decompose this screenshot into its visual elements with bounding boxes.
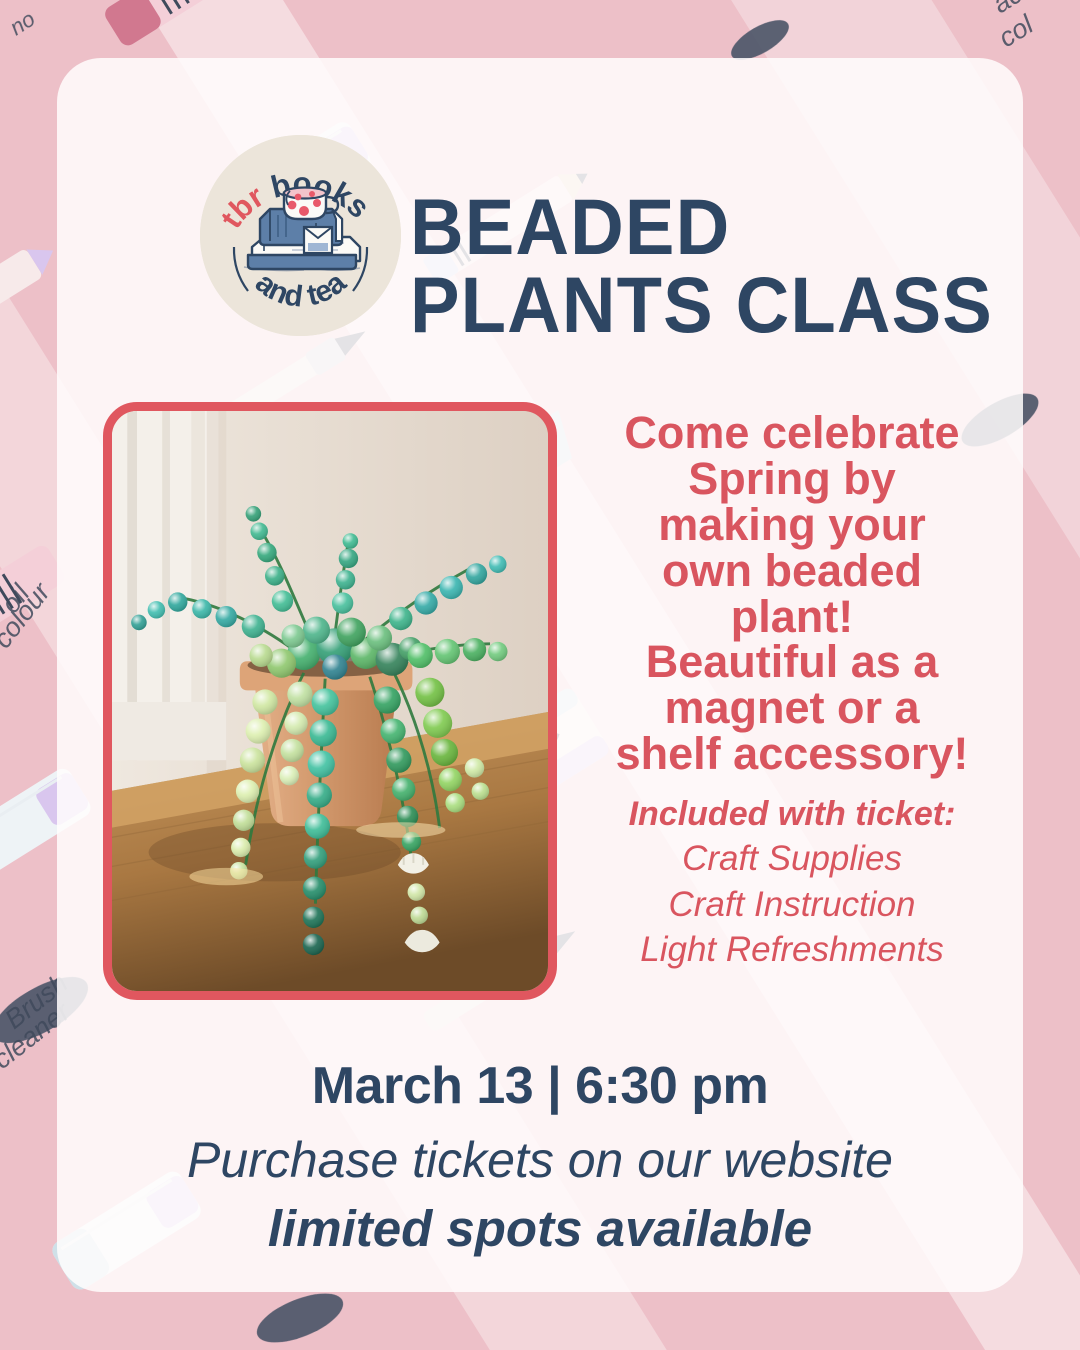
- pitch-line: magnet or a: [577, 685, 1007, 731]
- flyer-footer: March 13 | 6:30 pm Purchase tickets on o…: [57, 1058, 1023, 1259]
- pitch-line: own beaded: [577, 548, 1007, 594]
- pitch-line: shelf accessory!: [577, 731, 1007, 777]
- purchase-instruction: Purchase tickets on our website: [57, 1129, 1023, 1192]
- pitch-text: Come celebrate Spring by making your own…: [577, 410, 1007, 777]
- pitch-line: making your: [577, 502, 1007, 548]
- included-item: Craft Instruction: [577, 882, 1007, 928]
- event-date-time: March 13 | 6:30 pm: [57, 1058, 1023, 1115]
- flyer-header: tbr books and tea: [57, 58, 1023, 358]
- copy-block: Come celebrate Spring by making your own…: [577, 410, 1007, 973]
- included-item: Craft Supplies: [577, 836, 1007, 882]
- flyer-card: tbr books and tea: [57, 58, 1023, 1292]
- pitch-line: plant!: [577, 594, 1007, 640]
- included-heading: Included with ticket:: [577, 795, 1007, 834]
- pitch-line: Beautiful as a: [577, 639, 1007, 685]
- beaded-plant-photo: [103, 402, 557, 1000]
- title-line-1: BEADED: [410, 188, 960, 266]
- included-item: Light Refreshments: [577, 927, 1007, 973]
- title-line-2: PLANTS CLASS: [410, 266, 960, 344]
- limited-spots-note: limited spots available: [57, 1198, 1023, 1259]
- page-title: BEADED PLANTS CLASS: [410, 188, 960, 344]
- pitch-line: Spring by: [577, 456, 1007, 502]
- pitch-line: Come celebrate: [577, 410, 1007, 456]
- brand-logo: tbr books and tea: [200, 135, 401, 336]
